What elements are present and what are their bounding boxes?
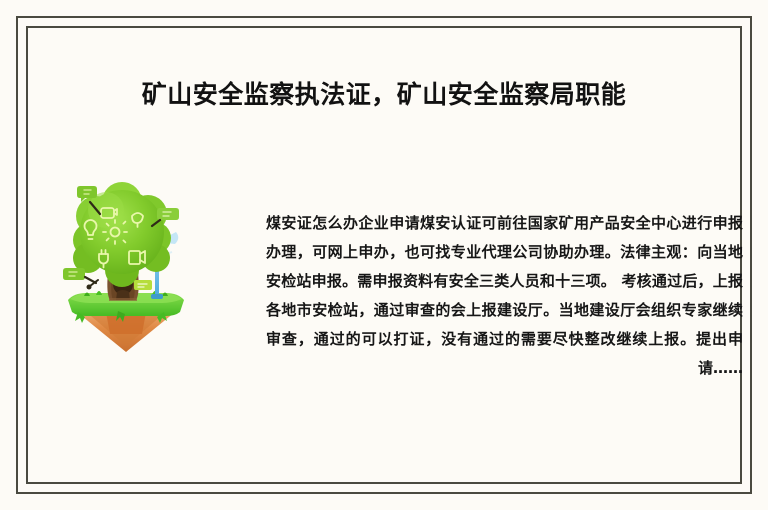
- body-paragraph: 煤安证怎么办企业申请煤安认证可前往国家矿用产品安全中心进行申报办理，可网上申办，…: [266, 209, 743, 383]
- speech-tag-badge: [134, 280, 152, 290]
- page-root: 矿山安全监察执法证，矿山安全监察局职能: [0, 0, 768, 510]
- page-title: 矿山安全监察执法证，矿山安全监察局职能: [0, 78, 768, 112]
- eco-tree-illustration: [60, 180, 192, 352]
